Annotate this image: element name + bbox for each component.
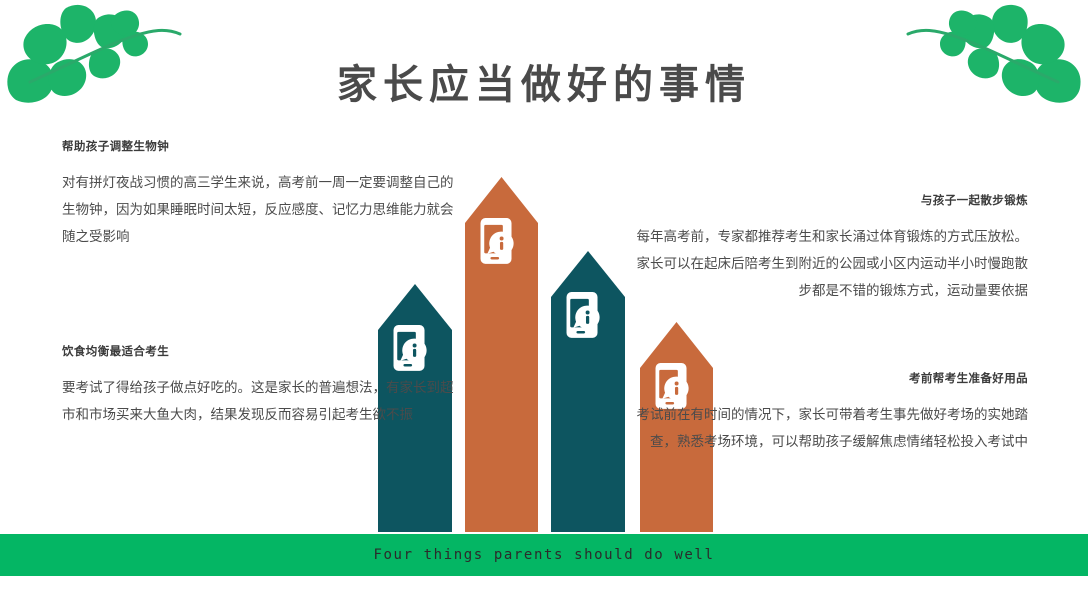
block-body-4: 考试前在有时间的情况下，家长可带着考生事先做好考场的实她踏查，熟悉考场环境，可以…	[632, 402, 1028, 456]
footer-caption: Four things parents should do well	[0, 534, 1088, 576]
block-heading-1: 帮助孩子调整生物钟	[62, 140, 454, 154]
mobile-info-icon-3	[567, 292, 600, 338]
slide-canvas: 家长应当做好的事情	[0, 0, 1088, 612]
text-block-walk-exercise: 与孩子一起散步锻炼 每年高考前，专家都推荐考生和家长涌过体育锻炼的方式压放松。家…	[632, 194, 1028, 305]
block-body-2: 要考试了得给孩子做点好吃的。这是家长的普遍想法，有家长到超市和市场买来大鱼大肉，…	[62, 375, 454, 429]
block-body-1: 对有拼灯夜战习惯的高三学生来说，高考前一周一定要调整自己的生物钟，因为如果睡眠时…	[62, 170, 454, 251]
mobile-info-icon-2	[481, 218, 514, 264]
text-block-balanced-diet: 饮食均衡最适合考生 要考试了得给孩子做点好吃的。这是家长的普遍想法，有家长到超市…	[62, 345, 454, 429]
block-body-3: 每年高考前，专家都推荐考生和家长涌过体育锻炼的方式压放松。家长可以在起床后陪考生…	[632, 224, 1028, 305]
text-block-prepare-supplies: 考前帮考生准备好用品 考试前在有时间的情况下，家长可带着考生事先做好考场的实她踏…	[632, 372, 1028, 456]
arrow-bar-3[interactable]	[551, 251, 625, 532]
block-heading-4: 考前帮考生准备好用品	[632, 372, 1028, 386]
block-heading-2: 饮食均衡最适合考生	[62, 345, 454, 359]
arrow-bar-chart	[0, 0, 1088, 612]
text-block-biological-clock: 帮助孩子调整生物钟 对有拼灯夜战习惯的高三学生来说，高考前一周一定要调整自己的生…	[62, 140, 454, 251]
arrow-bar-2[interactable]	[465, 177, 538, 532]
block-heading-3: 与孩子一起散步锻炼	[632, 194, 1028, 208]
